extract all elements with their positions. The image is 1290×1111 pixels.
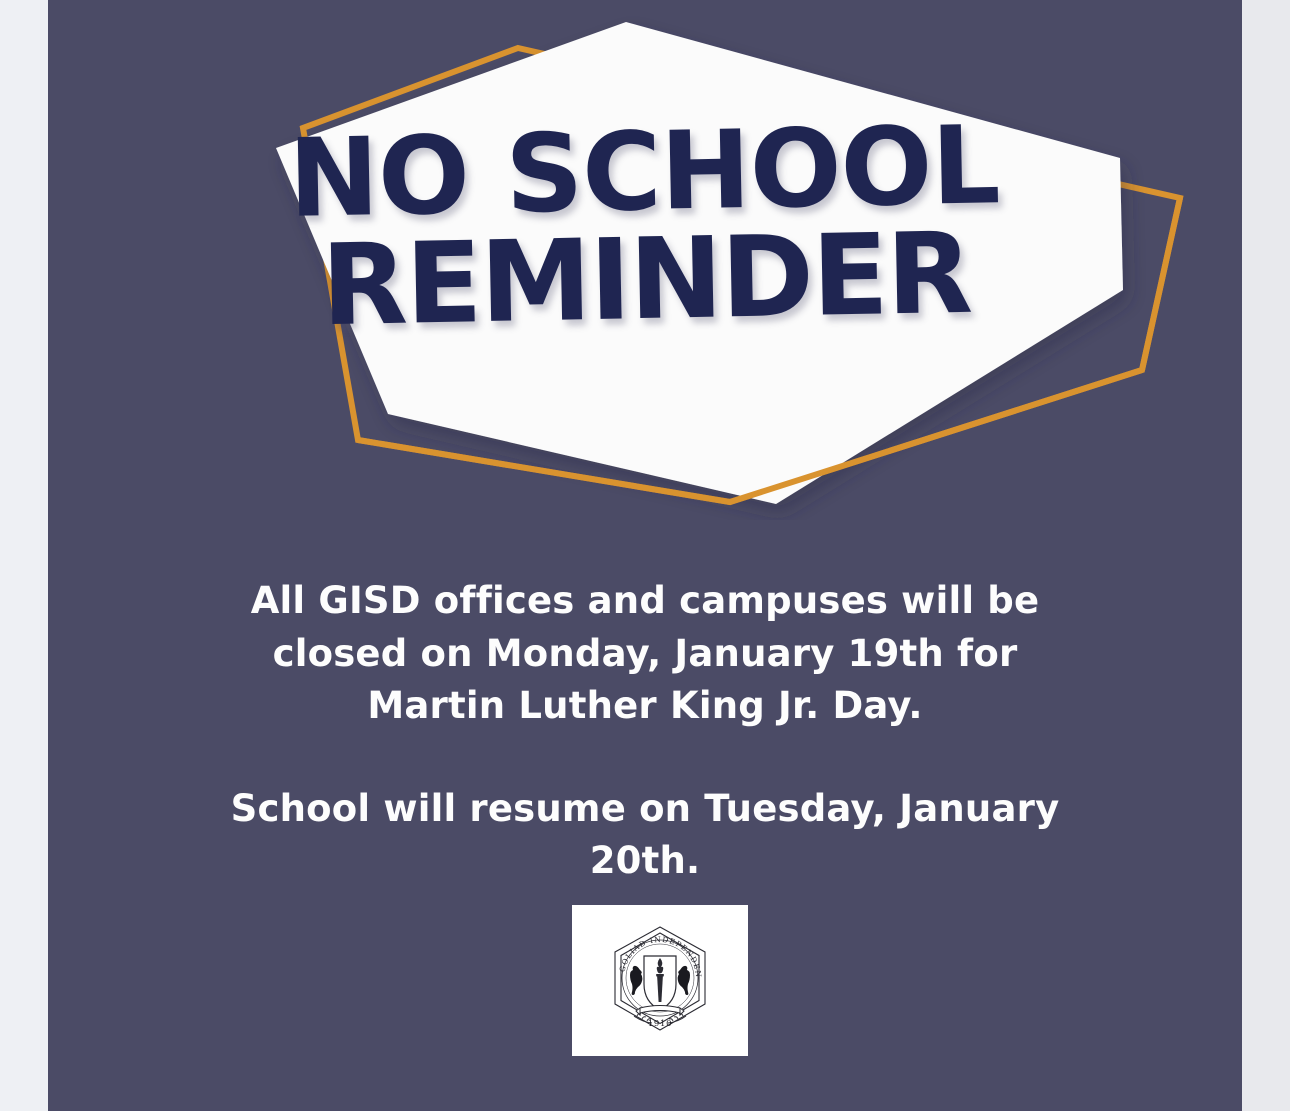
goliad-isd-seal-icon: GOLIAD INDEPENDENT SCHOOL DISTRICT bbox=[600, 922, 720, 1040]
white-hexagon-badge bbox=[276, 22, 1123, 504]
hero-section: NO SCHOOL REMINDER bbox=[48, 0, 1242, 520]
seal-year: 1910 bbox=[648, 1019, 672, 1029]
seal-horse-right bbox=[678, 965, 690, 994]
flyer-panel: NO SCHOOL REMINDER All GISD offices and … bbox=[48, 0, 1242, 1111]
announcement-paragraph-2: School will resume on Tuesday, January 2… bbox=[198, 783, 1092, 888]
paragraph-spacer bbox=[198, 733, 1092, 783]
seal-horse-left bbox=[630, 965, 642, 994]
hero-graphics bbox=[48, 0, 1242, 520]
announcement-paragraph-1: All GISD offices and campuses will be cl… bbox=[198, 575, 1092, 733]
announcement-body: All GISD offices and campuses will be cl… bbox=[198, 575, 1092, 888]
district-logo-card: GOLIAD INDEPENDENT SCHOOL DISTRICT bbox=[572, 905, 748, 1056]
